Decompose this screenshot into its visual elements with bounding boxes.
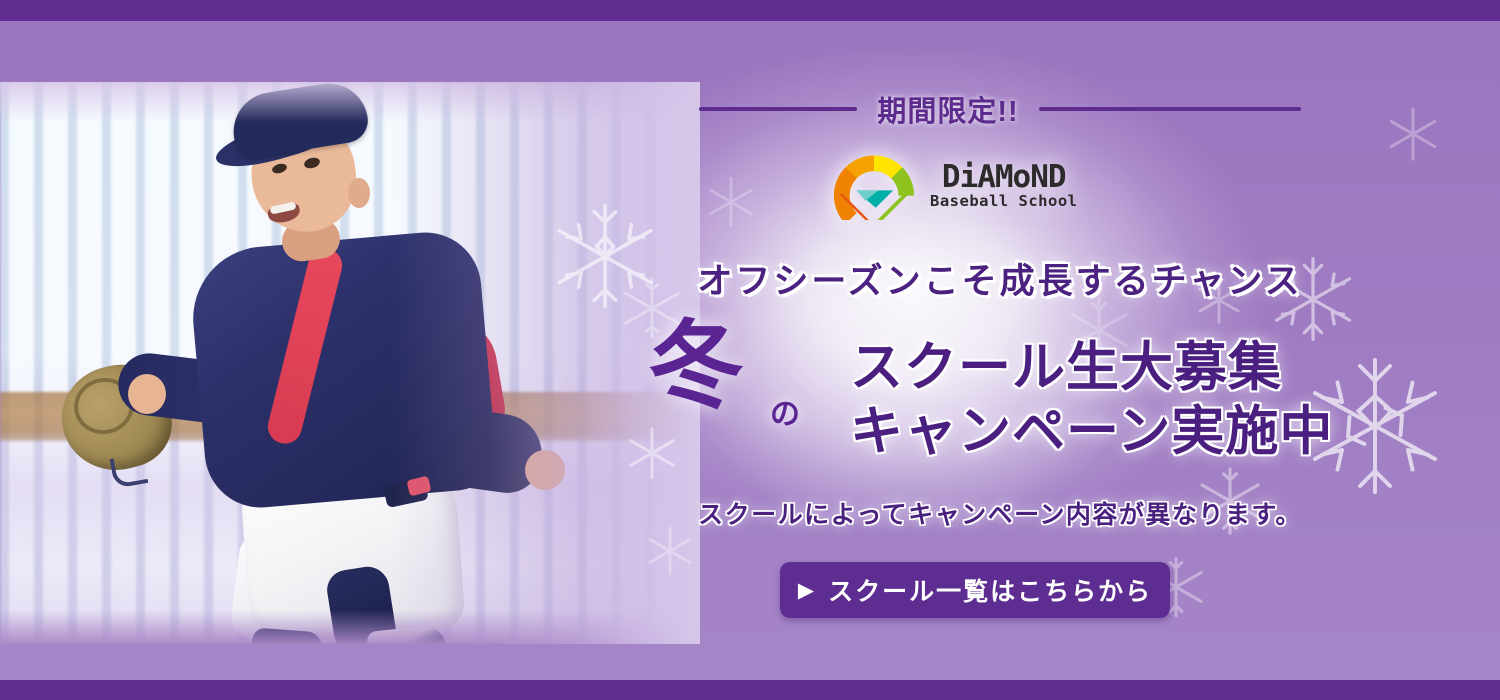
eyebrow-row: 期間限定!! (660, 89, 1340, 129)
snowflake-icon (1380, 101, 1446, 167)
logo-main-text: DiAMoND (930, 162, 1077, 193)
play-triangle-icon: ▶ (798, 580, 816, 601)
season-kanji: 冬 (648, 323, 744, 411)
banner-field: 期間限定!! (0, 21, 1500, 680)
headline-block: 冬 の スクール生大募集 キャンペーン実施中 (620, 319, 1380, 469)
school-list-button-label: スクール一覧はこちらから (828, 572, 1152, 608)
diamond-baseball-school-logo: DiAMoND Baseball School (830, 149, 1160, 223)
campaign-banner: 期間限定!! (0, 0, 1500, 700)
particle-no: の (770, 389, 800, 433)
school-list-button[interactable]: ▶ スクール一覧はこちらから (780, 562, 1170, 618)
lead-text: オフシーズンこそ成長するチャンス (620, 253, 1380, 304)
diamond-fan-logo-icon (830, 152, 918, 220)
eyebrow-text: 期間限定!! (877, 88, 1018, 130)
top-accent-bar (0, 0, 1500, 21)
rule-left (699, 107, 857, 111)
logo-wordmark: DiAMoND Baseball School (930, 162, 1077, 210)
rule-right (1039, 107, 1301, 111)
headline-line-2: キャンペーン実施中 (850, 389, 1370, 465)
logo-sub-text: Baseball School (930, 194, 1077, 210)
copy-column: 期間限定!! (620, 21, 1380, 680)
bottom-accent-bar (0, 680, 1500, 700)
photo-fade-right (0, 82, 700, 644)
hero-photo (0, 82, 700, 644)
note-text: スクールによってキャンペーン内容が異なります。 (620, 495, 1380, 531)
